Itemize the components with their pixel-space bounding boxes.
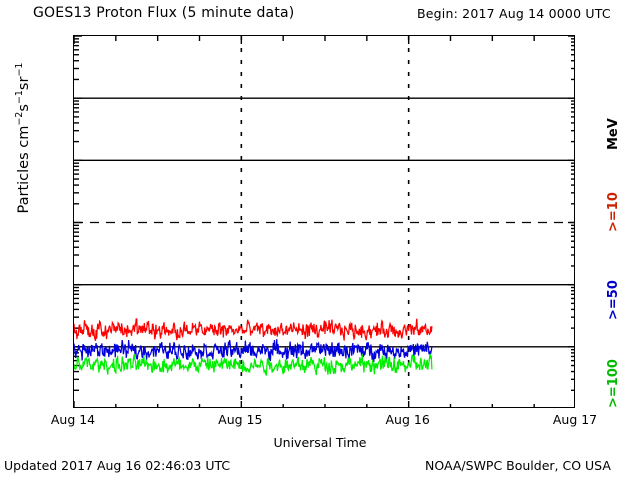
goes-proton-flux-chart: GOES13 Proton Flux (5 minute data) Begin… (0, 0, 640, 480)
series-trace-2 (74, 354, 432, 376)
credit-label: NOAA/SWPC Boulder, CO USA (425, 460, 611, 473)
legend-label-2: >=50 (606, 280, 621, 320)
legend-label-3: >=100 (606, 359, 621, 408)
legend-label-0: MeV (606, 118, 621, 150)
x-tick-label: Aug 15 (218, 414, 262, 427)
series-trace-1 (74, 339, 432, 361)
plot-clip (74, 36, 574, 407)
y-axis-title: Particles cm−2s−1sr−1 (16, 18, 32, 258)
updated-timestamp: Updated 2017 Aug 16 02:46:03 UTC (4, 460, 230, 473)
x-tick-label: Aug 17 (553, 414, 597, 427)
chart-title: GOES13 Proton Flux (5 minute data) (33, 6, 294, 20)
x-axis-title: Universal Time (0, 437, 640, 450)
series-trace-0 (74, 319, 432, 341)
x-tick-label: Aug 16 (386, 414, 430, 427)
plot-svg (74, 36, 574, 407)
plot-area (73, 35, 575, 408)
begin-time-label: Begin: 2017 Aug 14 0000 UTC (417, 8, 611, 21)
legend-label-1: >=10 (606, 192, 621, 232)
x-tick-label: Aug 14 (51, 414, 95, 427)
